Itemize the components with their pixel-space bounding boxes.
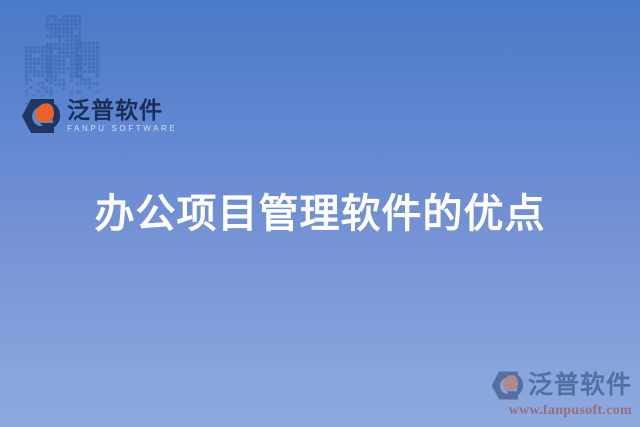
page-title: 办公项目管理软件的优点	[0, 189, 640, 239]
promo-banner: 泛普软件 FANPU SOFTWARE 办公项目管理软件的优点 泛普软件 www…	[0, 0, 640, 427]
pixel-skyline-canvas	[0, 0, 200, 105]
watermark-brand-row: 泛普软件	[480, 369, 632, 402]
fanpu-logo-mark	[20, 96, 60, 136]
brand-logo: 泛普软件 FANPU SOFTWARE	[20, 96, 177, 136]
pixel-skyline-pattern	[0, 0, 200, 105]
brand-text-block: 泛普软件 FANPU SOFTWARE	[67, 96, 177, 134]
brand-name-cn: 泛普软件	[67, 98, 177, 123]
watermark-name-cn: 泛普软件	[528, 372, 632, 399]
fanpu-watermark-mark	[490, 369, 523, 402]
watermark-url: www.fanpusoft.com	[480, 403, 632, 419]
brand-name-en: FANPU SOFTWARE	[67, 124, 177, 134]
site-watermark: 泛普软件 www.fanpusoft.com	[480, 369, 632, 419]
